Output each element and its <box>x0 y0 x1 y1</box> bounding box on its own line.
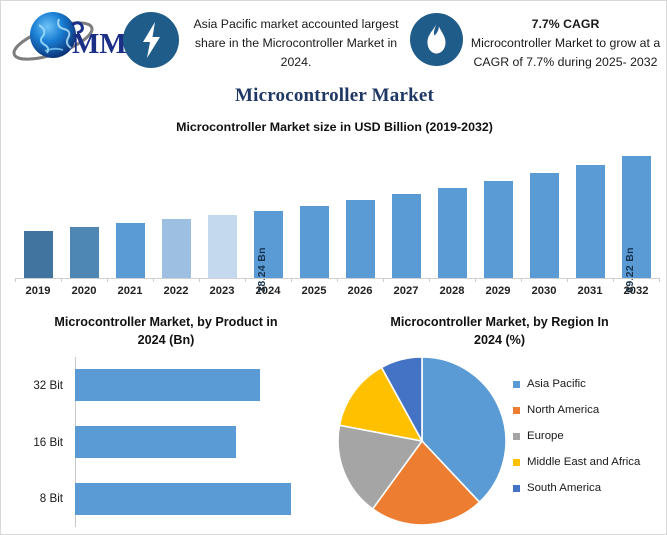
flame-icon <box>410 13 463 66</box>
header-stat-cagr: 7.7% CAGR Microcontroller Market to grow… <box>463 15 667 72</box>
market-size-chart-title: Microcontroller Market size in USD Billi… <box>1 120 667 134</box>
x-axis-label-2027: 2027 <box>380 285 432 297</box>
x-axis-label-2019: 2019 <box>12 285 64 297</box>
x-axis-tick <box>61 278 62 282</box>
bar-2031 <box>576 165 605 278</box>
x-axis-label-2031: 2031 <box>564 285 616 297</box>
x-axis-label-2028: 2028 <box>426 285 478 297</box>
legend-swatch <box>513 433 520 440</box>
bar-2019 <box>24 231 53 278</box>
market-size-bar-chart: 38.24 Bn69.22 Bn 20192020202120222023202… <box>15 141 659 301</box>
legend-label: South America <box>527 482 601 494</box>
hbar-label-32-bit: 32 Bit <box>3 379 63 392</box>
x-axis-tick <box>199 278 200 282</box>
header-stat-1-line1: Asia Pacific market accounted <box>193 17 358 31</box>
bar-slot <box>153 141 199 278</box>
header-stat-2-line1: Microcontroller Market to grow <box>471 36 636 50</box>
legend-label: Middle East and Africa <box>527 456 640 468</box>
x-axis-tick <box>567 278 568 282</box>
market-size-plot-area: 38.24 Bn69.22 Bn <box>15 141 659 278</box>
legend-item-south-america: South America <box>513 475 667 501</box>
bar-slot <box>337 141 383 278</box>
bar-slot <box>15 141 61 278</box>
globe-logo: MMR <box>9 7 131 69</box>
by-product-bar-chart: Microcontroller Market, by Product in 20… <box>7 313 325 531</box>
bar-slot: 38.24 Bn <box>245 141 291 278</box>
by-product-title-line2: 2024 (Bn) <box>138 333 195 347</box>
x-axis-label-2022: 2022 <box>150 285 202 297</box>
bar-2022 <box>162 219 191 278</box>
x-axis-label-2024: 2024 <box>242 285 294 297</box>
bar-2029 <box>484 181 513 278</box>
hbar-row: 32 Bit <box>75 369 315 401</box>
bar-slot <box>567 141 613 278</box>
bar-slot <box>521 141 567 278</box>
x-axis-label-2026: 2026 <box>334 285 386 297</box>
bar-2027 <box>392 194 421 278</box>
bar-2023 <box>208 215 237 278</box>
bar-slot: 69.22 Bn <box>613 141 659 278</box>
hbar-row: 8 Bit <box>75 483 315 515</box>
bar-slot <box>199 141 245 278</box>
legend-item-middle-east-and-africa: Middle East and Africa <box>513 449 667 475</box>
x-axis-tick <box>521 278 522 282</box>
x-axis-label-2023: 2023 <box>196 285 248 297</box>
x-axis-label-2025: 2025 <box>288 285 340 297</box>
bar-slot <box>61 141 107 278</box>
by-region-chart-title: Microcontroller Market, by Region In 202… <box>331 313 667 349</box>
x-axis-tick <box>475 278 476 282</box>
bar-2028 <box>438 188 467 278</box>
legend-swatch <box>513 485 520 492</box>
bar-slot <box>107 141 153 278</box>
x-axis-label-2030: 2030 <box>518 285 570 297</box>
bar-slot <box>475 141 521 278</box>
hbar-label-16-bit: 16 Bit <box>3 436 63 449</box>
bar-2026 <box>346 200 375 278</box>
x-axis-tick <box>429 278 430 282</box>
x-axis-tick <box>245 278 246 282</box>
by-region-title-line2: 2024 (%) <box>474 333 525 347</box>
x-axis-tick <box>659 278 660 282</box>
x-axis-label-2032: 2032 <box>610 285 662 297</box>
bar-slot <box>383 141 429 278</box>
bar-2032: 69.22 Bn <box>622 156 651 278</box>
legend-swatch <box>513 407 520 414</box>
x-axis-tick <box>337 278 338 282</box>
x-axis-tick <box>613 278 614 282</box>
bar-slot <box>429 141 475 278</box>
by-product-plot-area: 32 Bit16 Bit8 Bit <box>75 357 315 527</box>
bar-2025 <box>300 206 329 278</box>
legend-label: North America <box>527 404 599 416</box>
bar-slot <box>291 141 337 278</box>
header-stat-1-line3: Microcontroller Market in 2024. <box>263 36 398 69</box>
x-axis-tick <box>15 278 16 282</box>
x-axis-tick <box>107 278 108 282</box>
legend-item-north-america: North America <box>513 397 667 423</box>
hbar-label-8-bit: 8 Bit <box>3 492 63 505</box>
bar-2030 <box>530 173 559 278</box>
header: MMR Asia Pacific market accounted larges… <box>1 1 667 89</box>
hbar-8-bit <box>75 483 291 515</box>
infographic-page: MMR Asia Pacific market accounted larges… <box>0 0 667 535</box>
by-region-pie-chart: Microcontroller Market, by Region In 202… <box>331 313 667 531</box>
x-axis-label-2029: 2029 <box>472 285 524 297</box>
bar-2024: 38.24 Bn <box>254 211 283 278</box>
x-axis-tick <box>383 278 384 282</box>
legend-swatch <box>513 459 520 466</box>
header-stat-asia-pacific: Asia Pacific market accounted largest sh… <box>189 15 403 72</box>
pie-graphic <box>336 355 508 527</box>
by-region-legend: Asia PacificNorth AmericaEuropeMiddle Ea… <box>513 371 667 501</box>
x-axis-tick <box>291 278 292 282</box>
x-axis-label-2020: 2020 <box>58 285 110 297</box>
by-region-title-line1: Microcontroller Market, by Region In <box>390 315 608 329</box>
hbar-16-bit <box>75 426 236 458</box>
header-cagr-headline: 7.7% CAGR <box>463 15 667 34</box>
bar-2020 <box>70 227 99 278</box>
lightning-bolt-icon <box>123 12 179 68</box>
header-stat-2-line3: 2032 <box>630 55 657 69</box>
by-product-chart-title: Microcontroller Market, by Product in 20… <box>7 313 325 349</box>
hbar-row: 16 Bit <box>75 426 315 458</box>
x-axis-tick <box>153 278 154 282</box>
legend-swatch <box>513 381 520 388</box>
legend-label: Asia Pacific <box>527 378 586 390</box>
legend-item-europe: Europe <box>513 423 667 449</box>
legend-label: Europe <box>527 430 564 442</box>
by-product-title-line1: Microcontroller Market, by Product in <box>54 315 277 329</box>
x-axis-label-2021: 2021 <box>104 285 156 297</box>
page-title: Microcontroller Market <box>1 85 667 107</box>
hbar-32-bit <box>75 369 260 401</box>
bar-2021 <box>116 223 145 278</box>
legend-item-asia-pacific: Asia Pacific <box>513 371 667 397</box>
